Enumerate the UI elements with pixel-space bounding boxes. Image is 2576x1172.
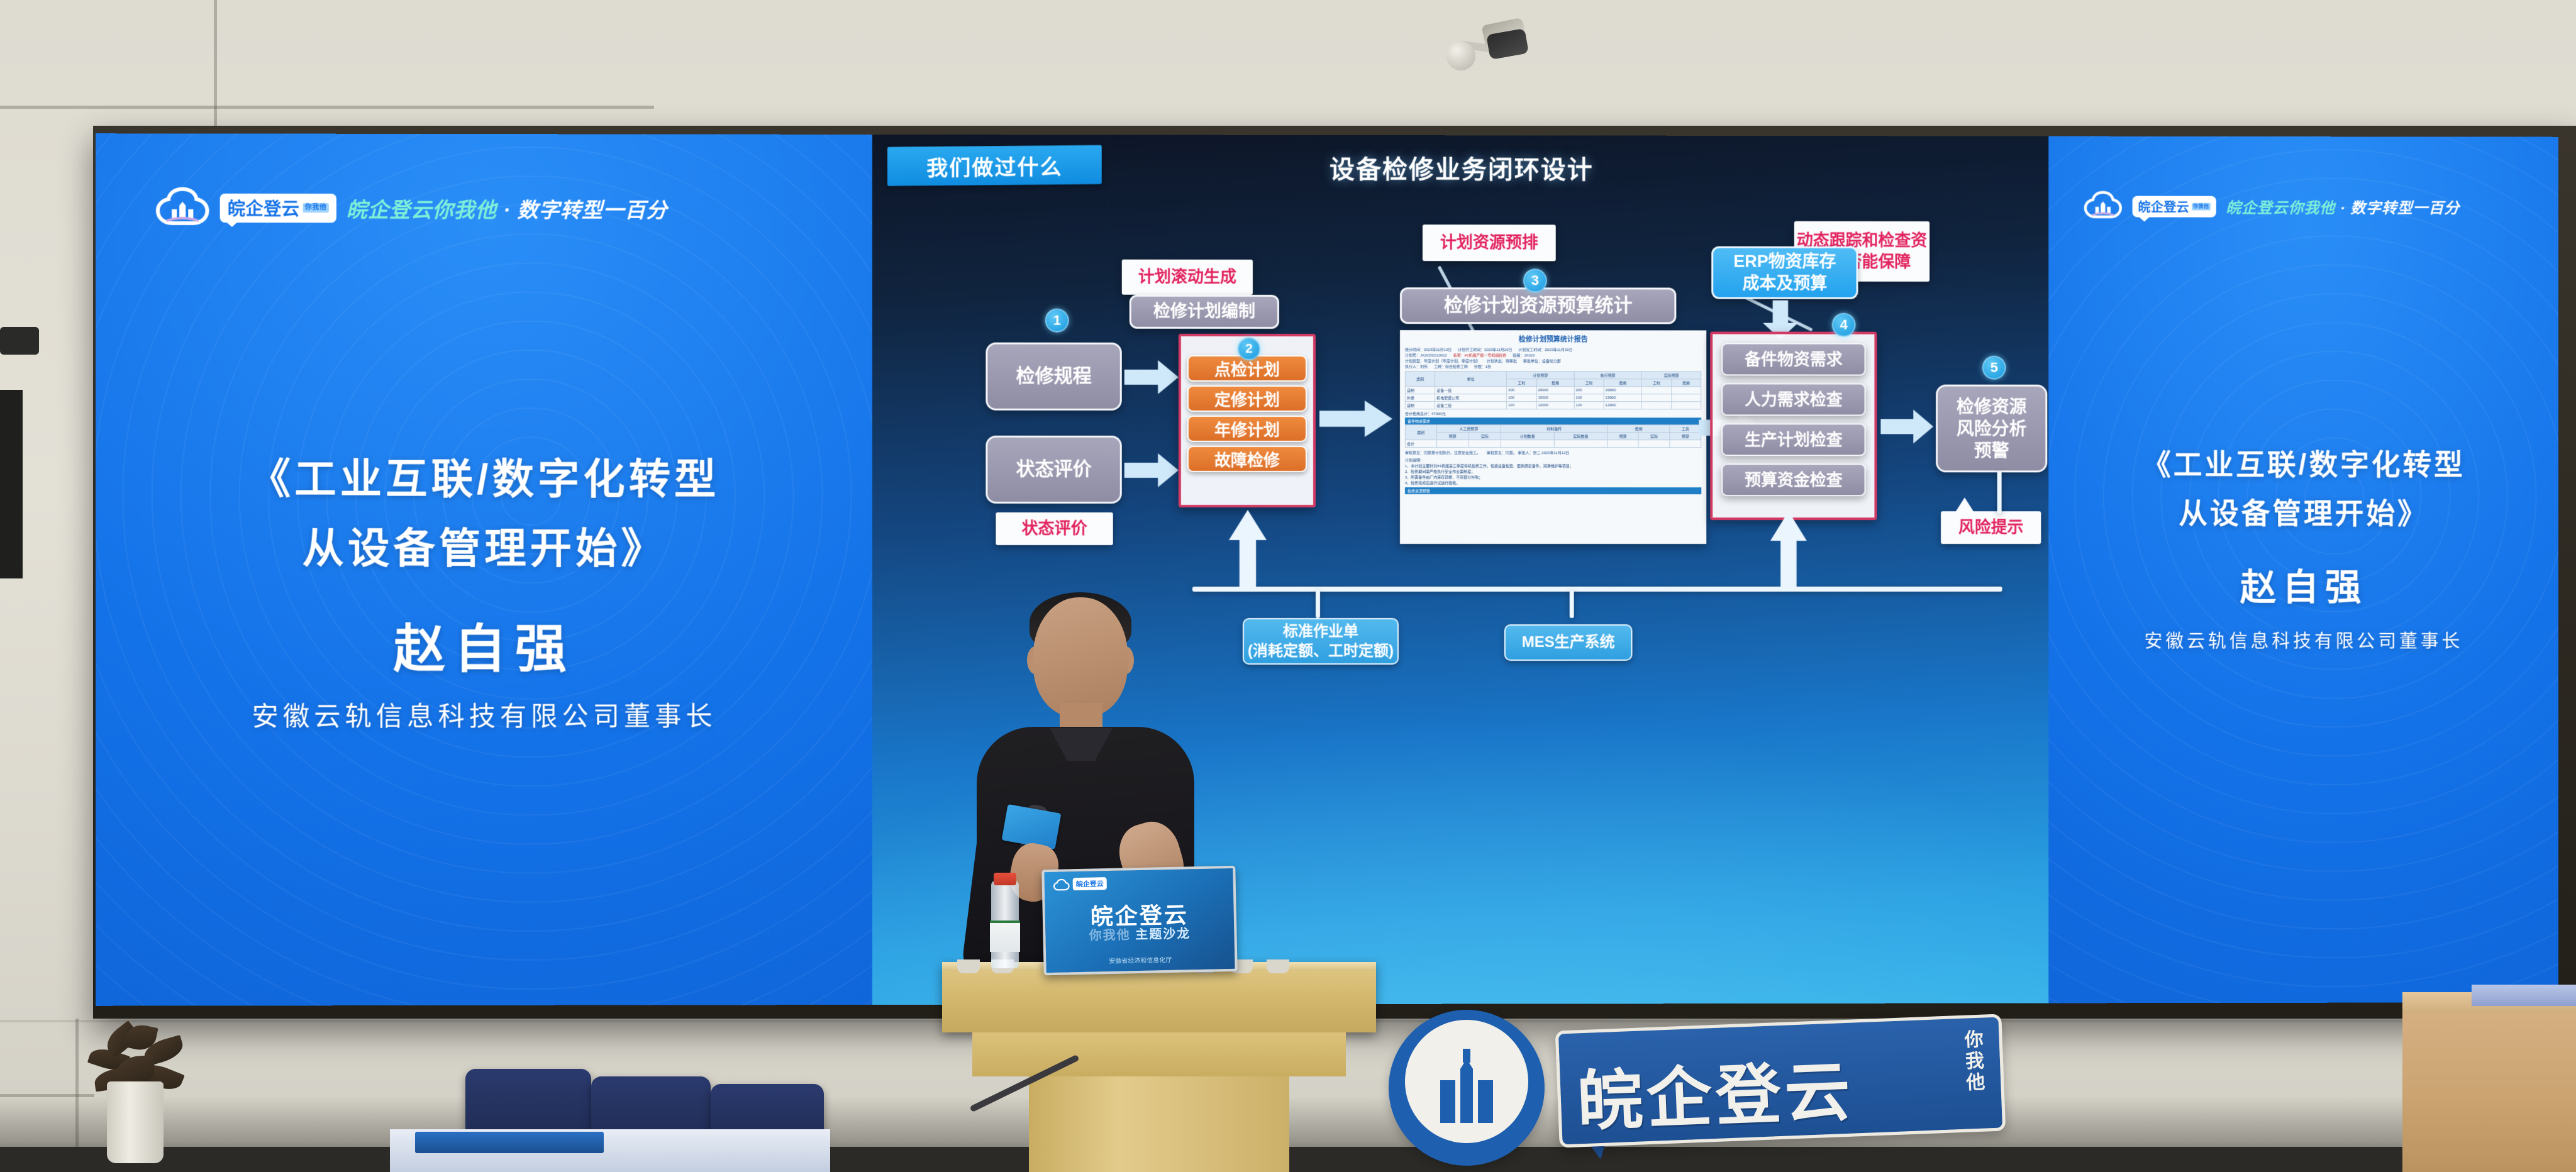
stage3-header-box: 检修计划资源预算统计 [1400,287,1676,324]
connector-stage5-down [1997,471,2002,514]
arrow-stage2-to-stage3 [1319,401,1392,437]
stage3-report-screenshot: 检修计划预算统计报告 统计时间：2023年11月10日 计划开工时间：2023年… [1400,330,1706,544]
backdrop-sign: 皖企登云 你我他 [1555,1014,2006,1147]
arrow-stage4-to-stage5 [1880,409,1933,443]
report-note-item: 4、检修完成后进行试运行验收。 [1405,480,1701,485]
speaker-name: 赵自强 [2048,558,2558,611]
laptop-screen[interactable]: 皖企登云 皖企登云 你我他 主题沙龙 安徽省经济和信息化厅 [1041,866,1237,975]
arrow-input-to-stage2 [1124,360,1179,394]
stage4-item: 生产计划检查 [1721,423,1865,456]
stage2-item-label: 年修计划 [1214,417,1280,440]
huanqi-cloud-logo-icon [2084,190,2123,222]
arrow-feedback-to-stage2 [1229,510,1267,589]
stage-badge-3: 3 [1523,268,1547,292]
stage2-item-label: 故障检修 [1214,447,1280,470]
huanqi-cloud-logo-icon [1405,1020,1528,1143]
speaker-org: 安徽云轨信息科技有限公司董事长 [2048,627,2558,653]
connector-sop-up [1316,590,1320,618]
input-box-inspection-procedure: 检修规程 [985,343,1121,411]
front-table-banner [415,1132,604,1153]
report-note-item: 3、所需备件由厂内库存调拨，不足部分外购； [1405,474,1701,480]
stage4-item-label: 生产计划检查 [1745,429,1843,450]
report-footnotes: 审核意见：同意按计划执行，注意安全施工。 审批意见：同意。 审批人：张三 202… [1405,450,1701,455]
brand-badge-text: 皖企登云 [2138,197,2190,216]
stage-badge-4: 4 [1832,313,1856,337]
table-header-row: 预算 实际 计划数量 实际数量 预算 实际 预算 [1405,433,1701,440]
stage5-line3: 预警 [1974,440,2009,462]
venue-backdrop-logo: 皖企登云 你我他 [1389,1003,2043,1172]
laptop-subtitle-light: 你我他 [1089,928,1130,943]
stage4-source-line1: ERP物资库存 [1733,251,1836,273]
table-row: 合计 [1405,440,1701,448]
report-meta-row: 计划号：JX20231110012 名称：#1机组产能一号机组检修 班组：JX0… [1405,352,1701,358]
water-bottle-cap [994,873,1016,885]
led-wall-screen: 皖企登云 你我他 皖企登云你我他 · 数字转型一百分 《工业互联/数字化转型 从… [96,133,2558,1006]
source-box-mes-label: MES生产系统 [1522,633,1615,652]
report-table: 类别 单位 计划预算 执行预算 实际预算 工时 费用 工时 费用 工时 [1405,371,1701,409]
report-section2-band: 备件物资需求 [1405,417,1701,424]
stage-badge-2: 2 [1238,338,1260,360]
brand-badge-text: 皖企登云 [228,195,300,220]
table-row: 自制 设备二班 120 12000 120 12000 [1405,402,1701,409]
water-bottle-label [990,920,1020,952]
podium-middle [972,1032,1346,1076]
speaker-org: 安徽云轨信息科技有限公司董事长 [96,695,872,734]
callout-plan-rolling: 计划滚动生成 [1122,260,1253,295]
backdrop-cloud-inner [1405,1020,1528,1143]
brand-badge-sub: 你我他 [303,203,329,213]
brand-slogan: 皖企登云你我他 · 数字转型一百分 [347,193,668,224]
callout-risk-alert-label: 风险提示 [1958,517,2024,538]
stage4-item: 预算资金检查 [1721,463,1865,496]
report-title: 检修计划预算统计报告 [1405,334,1701,344]
stage5-line2: 风险分析 [1957,417,2027,440]
huanqi-cloud-logo-icon [1053,878,1070,891]
panel-title-line1: 《工业互联/数字化转型 [2048,443,2558,485]
panel-title-line2: 从设备管理开始》 [2048,492,2558,534]
callout-risk-alert: 风险提示 [1941,511,2041,544]
laptop-subtitle-bold: 主题沙龙 [1135,927,1191,942]
input-box-condition-assessment-label: 状态评价 [1016,458,1091,482]
stage4-item-label: 人力需求检查 [1745,389,1843,410]
stage-badge-5: 5 [1982,356,2006,380]
report-meta-row: 计划类型：年度计划（年度计划、季度计划） 计划状态：待审批 审批单位：设备动力部 [1405,358,1701,363]
podium-column [1029,1076,1289,1172]
backdrop-sign-text: 皖企登云 [1575,1038,1855,1144]
source-box-standard-work-order: 标准作业单 (消耗定额、工时定额) [1243,618,1399,665]
laptop-subtitle: 你我他 主题沙龙 [1045,922,1235,944]
callout-condition-assessment: 状态评价 [996,512,1113,545]
report-note-item: 1、本计划主要针对#1机组第三季度停机检修工作，包括设备检查、更换磨损备件、润滑… [1405,463,1701,468]
source-box-sop-line1: 标准作业单 [1283,622,1358,641]
wall-tile-seam [214,0,217,126]
side-desk-documents [2472,985,2576,1006]
stage4-item-label: 备件物资需求 [1745,349,1843,370]
stage4-source-line2: 成本及预算 [1743,273,1828,295]
brand-slogan-part2: 数字转型一百分 [517,198,667,221]
callout-resource-preplan-label: 计划资源预排 [1440,232,1538,253]
backdrop-sign-side-text: 你我他 [1957,1029,1987,1094]
stage5-risk-box: 检修资源 风险分析 预警 [1936,385,2047,473]
table-group-header-row: 类别 人工费预算 材料备件 费用 工具 [1405,425,1701,433]
input-box-condition-assessment: 状态评价 [985,436,1121,504]
source-box-mes-system: MES生产系统 [1504,624,1633,661]
wall-fixture [0,327,39,355]
laptop-brand-badge: 皖企登云 [1073,877,1107,890]
laptop-brand-lockup: 皖企登云 [1053,877,1107,891]
arrow-input-to-stage2 [1124,453,1179,487]
panel-title-line2: 从设备管理开始》 [96,519,872,579]
stage2-item: 定修计划 [1187,385,1307,412]
stage2-item: 故障检修 [1187,446,1307,472]
side-desk [2402,1000,2576,1172]
callout-plan-rolling-label: 计划滚动生成 [1138,267,1236,288]
stage5-line1: 检修资源 [1957,395,2027,417]
stage2-header-box: 检修计划编制 [1130,295,1279,329]
stage2-item-label: 定修计划 [1214,387,1280,410]
stage4-item-label: 预算资金检查 [1745,470,1843,490]
brand-slogan: 皖企登云你我他 · 数字转型一百分 [2226,196,2460,218]
stage4-item: 备件物资需求 [1721,343,1865,375]
connector-mes-up [1570,590,1574,618]
callout-resource-preplan: 计划资源预排 [1423,224,1556,261]
stage2-header-label: 检修计划编制 [1153,301,1255,323]
brand-lockup: 皖企登云 你我他 皖企登云你我他 · 数字转型一百分 [2084,190,2460,223]
report-note-item: 2、检修期间需严格执行安全作业票制度； [1405,468,1701,474]
presenter-head [1033,597,1128,717]
wall-tile-seam [0,106,654,109]
report-section3-band: 检修资源预警 [1405,487,1701,494]
brand-slogan-dot: · [2340,200,2346,217]
stage4-source-erp-box: ERP物资库存 成本及预算 [1711,246,1858,299]
report-total-note: 合计费用总计：47000元 [1405,411,1701,416]
panel-title-line1: 《工业互联/数字化转型 [96,449,872,509]
left-title-panel: 皖企登云 你我他 皖企登云你我他 · 数字转型一百分 《工业互联/数字化转型 从… [96,133,872,1006]
brand-slogan-part1: 皖企登云你我他 [2226,200,2335,217]
brand-badge-sub: 你我他 [2192,202,2210,210]
right-title-panel: 皖企登云 你我他 皖企登云你我他 · 数字转型一百分 《工业互联/数字化转型 从… [2048,136,2558,1003]
brand-slogan-part2: 数字转型一百分 [2350,200,2460,217]
arrow-feedback-to-stage4 [1770,511,1807,589]
brand-badge: 皖企登云 你我他 [220,193,336,222]
stage2-item-label: 点检计划 [1214,357,1280,380]
potted-plant-pot [107,1081,164,1163]
source-box-sop-line2: (消耗定额、工时定额) [1248,641,1394,661]
feedback-bus-line [1192,587,2002,592]
brand-lockup: 皖企登云 你我他 皖企登云你我他 · 数字转型一百分 [155,187,668,229]
brand-badge: 皖企登云 你我他 [2133,196,2216,217]
stage2-item: 年修计划 [1187,416,1307,442]
report-table-2: 类别 人工费预算 材料备件 费用 工具 预算 实际 计划数量 实际数量 预算 [1405,424,1701,448]
table-row: 自制 设备一班 200 20000 200 20000 [1405,387,1701,394]
brand-slogan-dot: · [503,198,511,221]
callout-condition-assessment-label: 状态评价 [1021,518,1087,539]
laptop-footer: 安徽省经济和信息化厅 [1046,953,1235,966]
wall-fixture [0,390,23,578]
slide-title: 设备检修业务闭环设计 [872,148,2048,186]
stage-badge-1: 1 [1045,309,1069,333]
report-meta-row: 统计时间：2023年11月10日 计划开工时间：2023年11月20日 计划完工… [1405,346,1701,352]
table-group-header-row: 类别 单位 计划预算 执行预算 实际预算 [1405,372,1701,379]
input-box-inspection-procedure-label: 检修规程 [1016,365,1091,389]
screenshot-root: 皖企登云 你我他 皖企登云你我他 · 数字转型一百分 《工业互联/数字化转型 从… [0,0,2576,1172]
stage3-header-label: 检修计划资源预算统计 [1444,294,1633,318]
stage4-item: 人力需求检查 [1721,383,1865,416]
brand-slogan-part1: 皖企登云你我他 [347,198,497,221]
podium: 皖企登云 皖企登云 你我他 主题沙龙 安徽省经济和信息化厅 [942,962,1376,1172]
huanqi-cloud-logo-icon [155,187,210,229]
report-notes-title: 计划说明： [1405,457,1701,463]
security-camera-icon [1446,18,1528,74]
report-meta-row: 执行人：刘伟 工种：综合检修工种 份数：1份 [1405,363,1701,369]
table-row: 外委 机电安装公司 100 15000 100 15000 [1405,394,1701,402]
speaker-name: 赵自强 [96,607,872,682]
